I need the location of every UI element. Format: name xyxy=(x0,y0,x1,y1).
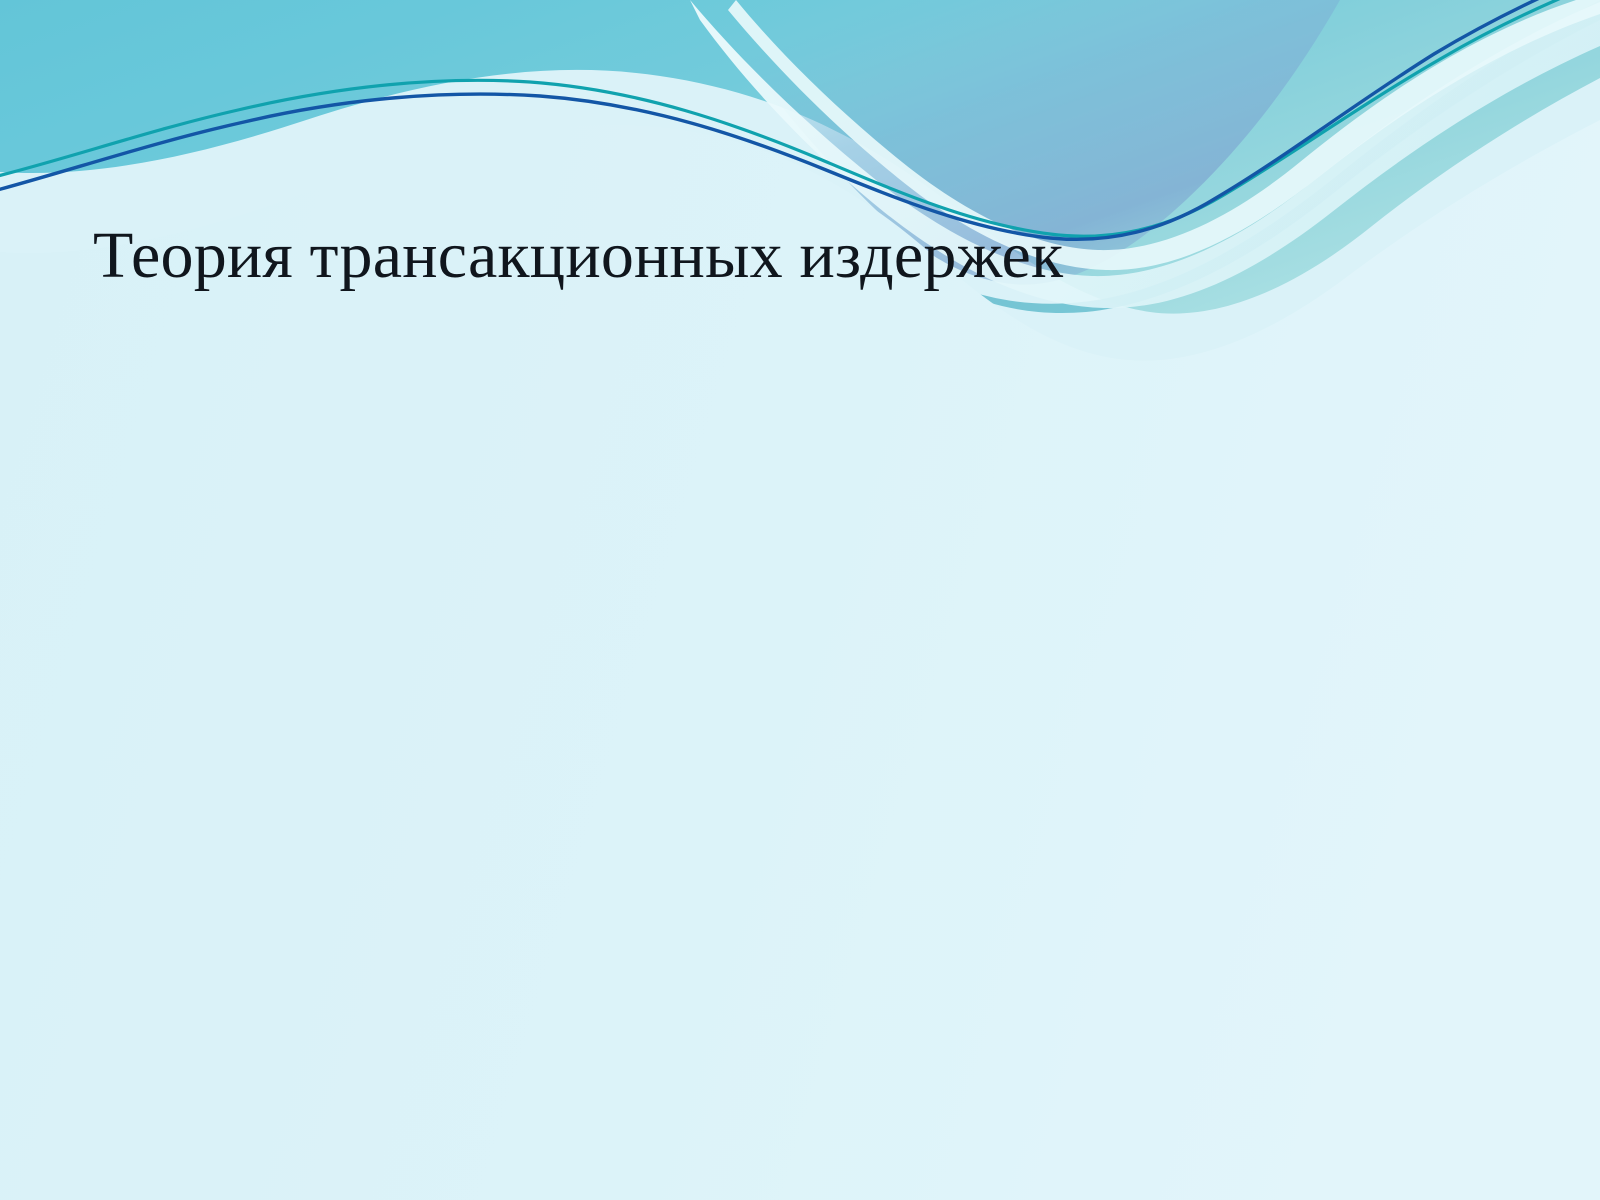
slide-title: Теория трансакционных издержек xyxy=(93,221,1063,290)
slide-canvas: Теория трансакционных издержек xyxy=(0,0,1600,1200)
body-placeholder[interactable] xyxy=(93,330,1513,1090)
title-placeholder[interactable]: Теория трансакционных издержек xyxy=(93,206,1513,306)
